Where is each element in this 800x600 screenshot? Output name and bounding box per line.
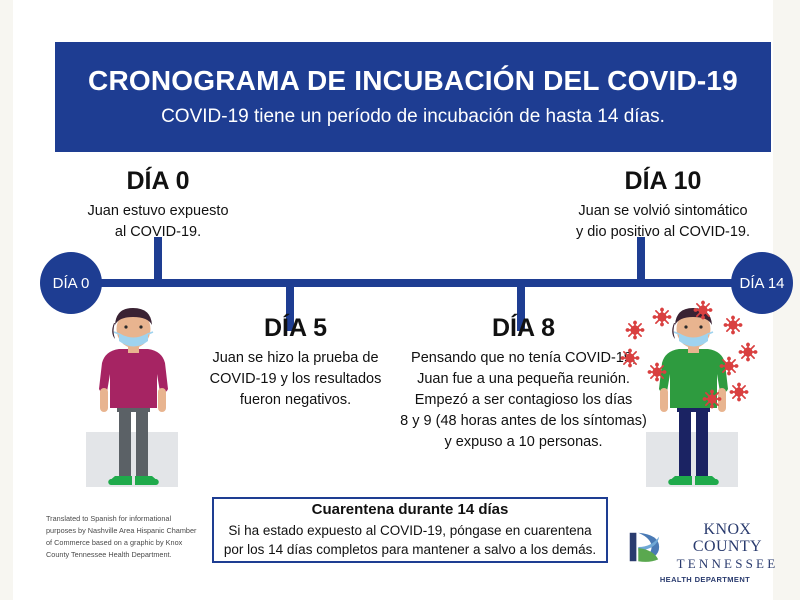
milestone-day10-title: DÍA 10: [553, 168, 773, 196]
milestone-day5: DÍA 5 Juan se hizo la prueba de COVID-19…: [188, 315, 403, 411]
milestone-day5-line: fueron negativos.: [188, 390, 403, 411]
person-illustration-left: [88, 305, 178, 490]
milestone-day0-body: Juan estuvo expuesto al COVID-19.: [58, 201, 258, 243]
attribution-text: Translated to Spanish for informational …: [46, 513, 198, 561]
milestone-day5-title: DÍA 5: [188, 315, 403, 343]
page-subtitle: COVID-19 tiene un período de incubación …: [161, 107, 665, 128]
knox-county-logo: KNOX COUNTY TENNESSEE HEALTH DEPARTMENT: [625, 522, 785, 584]
milestone-day0: DÍA 0 Juan estuvo expuesto al COVID-19.: [58, 168, 258, 243]
logo-line-tennessee: TENNESSEE: [670, 556, 785, 572]
milestone-day0-line: al COVID-19.: [58, 222, 258, 243]
infographic-sheet: CRONOGRAMA DE INCUBACIÓN DEL COVID-19 CO…: [13, 0, 773, 600]
knox-county-swoosh-icon: [625, 529, 663, 565]
virus-particles-group: [617, 300, 767, 430]
milestone-day5-body: Juan se hizo la prueba de COVID-19 y los…: [188, 348, 403, 411]
timeline-tick-day10: [637, 237, 645, 283]
milestone-day10-line: y dio positivo al COVID-19.: [553, 222, 773, 243]
page-title: CRONOGRAMA DE INCUBACIÓN DEL COVID-19: [88, 66, 738, 97]
logo-line-health-department: HEALTH DEPARTMENT: [660, 575, 750, 584]
milestone-day0-line: Juan estuvo expuesto: [58, 201, 258, 222]
milestone-day10-line: Juan se volvió sintomático: [553, 201, 773, 222]
quarantine-box: Cuarentena durante 14 días Si ha estado …: [212, 497, 608, 563]
header-banner: CRONOGRAMA DE INCUBACIÓN DEL COVID-19 CO…: [55, 42, 771, 152]
milestone-day10-body: Juan se volvió sintomático y dio positiv…: [553, 201, 773, 243]
milestone-day10: DÍA 10 Juan se volvió sintomático y dio …: [553, 168, 773, 243]
infographic-canvas: CRONOGRAMA DE INCUBACIÓN DEL COVID-19 CO…: [0, 0, 800, 600]
milestone-day0-title: DÍA 0: [58, 168, 258, 196]
quarantine-title: Cuarentena durante 14 días: [312, 501, 509, 518]
logo-line-knox-county: KNOX COUNTY: [670, 522, 785, 556]
timeline-start-label: DÍA 0: [53, 275, 90, 292]
milestone-day5-line: Juan se hizo la prueba de: [188, 348, 403, 369]
milestone-day5-line: COVID-19 y los resultados: [188, 369, 403, 390]
timeline-end-label: DÍA 14: [739, 275, 784, 292]
quarantine-body: Si ha estado expuesto al COVID-19, pónga…: [224, 522, 596, 560]
quarantine-line: por los 14 días completos para mantener …: [224, 541, 596, 560]
timeline-tick-day0: [154, 237, 162, 283]
quarantine-line: Si ha estado expuesto al COVID-19, pónga…: [224, 522, 596, 541]
milestone-day8-line: y expuso a 10 personas.: [391, 432, 656, 453]
